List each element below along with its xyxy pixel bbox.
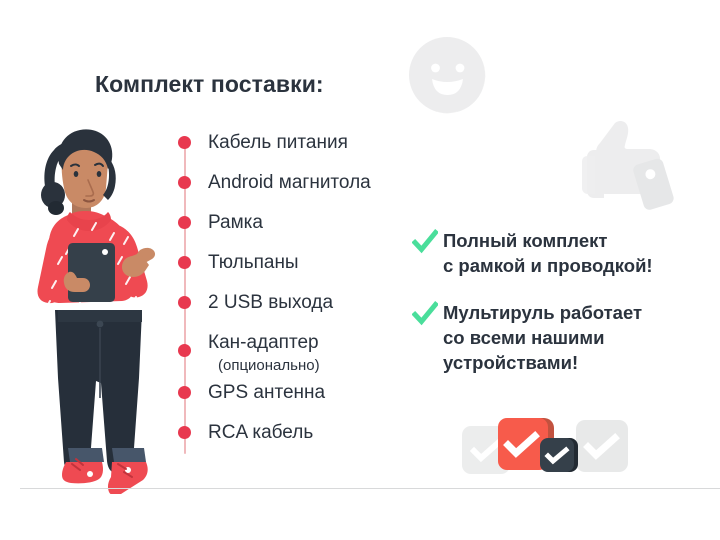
bullet-dot-icon: [178, 344, 191, 357]
list-item: RCA кабель: [178, 420, 438, 460]
check-mark-icon: [576, 420, 628, 472]
check-mark-icon: [540, 438, 574, 472]
bullet-dot-icon: [178, 386, 191, 399]
list-item-text: Кан-адаптер (опционально): [208, 330, 320, 375]
list-item-label: RCA кабель: [208, 420, 313, 446]
list-item-text: Тюльпаны: [208, 250, 299, 276]
bullet-dot-icon: [178, 426, 191, 439]
benefit-line-3: устройствами!: [443, 352, 578, 373]
page-title: Комплект поставки:: [95, 71, 324, 98]
bullet-dot-icon: [178, 256, 191, 269]
benefit-text: Мультируль работает со всеми нашими устр…: [443, 300, 642, 375]
woman-pointing-illustration: [14, 112, 190, 494]
bullet-dot-icon: [178, 296, 191, 309]
checkbox-cards-graphic: [462, 412, 622, 484]
list-item: Кан-адаптер (опционально): [178, 330, 438, 380]
check-mark-icon: [412, 229, 438, 255]
bullet-dot-icon: [178, 216, 191, 229]
benefit-line-1: Полный комплект: [443, 230, 607, 251]
list-item-label: Рамка: [208, 210, 263, 236]
benefit-line-1: Мультируль работает: [443, 302, 642, 323]
list-item: Рамка: [178, 210, 438, 250]
list-item: GPS антенна: [178, 380, 438, 420]
list-item-label: Android магнитола: [208, 170, 371, 196]
benefit-item: Полный комплект с рамкой и проводкой!: [412, 228, 712, 278]
check-mark-icon: [412, 301, 438, 327]
spec-list: Кабель питания Android магнитола Рамка Т…: [178, 130, 438, 460]
list-item-sublabel: (опционально): [218, 356, 320, 375]
benefits-list: Полный комплект с рамкой и проводкой! Му…: [412, 228, 712, 397]
list-item-text: Android магнитола: [208, 170, 371, 196]
list-item-label: Кабель питания: [208, 130, 348, 156]
bullet-dot-icon: [178, 136, 191, 149]
smiley-face-icon: [408, 36, 486, 114]
thumbs-up-icon: [568, 112, 676, 217]
list-item-text: Кабель питания: [208, 130, 348, 156]
list-item-label: GPS антенна: [208, 380, 325, 406]
avito-watermark: Avito: [616, 498, 712, 526]
promo-image-canvas: Комплект поставки: Кабель питания Androi…: [0, 0, 720, 540]
avito-wordmark: Avito: [643, 503, 692, 525]
list-item: 2 USB выхода: [178, 290, 438, 330]
list-item: Тюльпаны: [178, 250, 438, 290]
list-item-text: RCA кабель: [208, 420, 313, 446]
checkbox-card-grey-right: [576, 420, 628, 472]
checkbox-card-dark: [540, 438, 574, 472]
ground-line: [20, 488, 720, 489]
list-item: Android магнитола: [178, 170, 438, 210]
benefit-item: Мультируль работает со всеми нашими устр…: [412, 300, 712, 375]
benefit-line-2: со всеми нашими: [443, 327, 605, 348]
bullet-dot-icon: [178, 176, 191, 189]
benefit-text: Полный комплект с рамкой и проводкой!: [443, 228, 653, 278]
list-item-text: GPS антенна: [208, 380, 325, 406]
list-item-label: 2 USB выхода: [208, 290, 333, 316]
list-item-label: Тюльпаны: [208, 250, 299, 276]
benefit-line-2: с рамкой и проводкой!: [443, 255, 653, 276]
list-item-label: Кан-адаптер: [208, 330, 320, 356]
list-item-text: 2 USB выхода: [208, 290, 333, 316]
list-item-text: Рамка: [208, 210, 263, 236]
list-item: Кабель питания: [178, 130, 438, 170]
